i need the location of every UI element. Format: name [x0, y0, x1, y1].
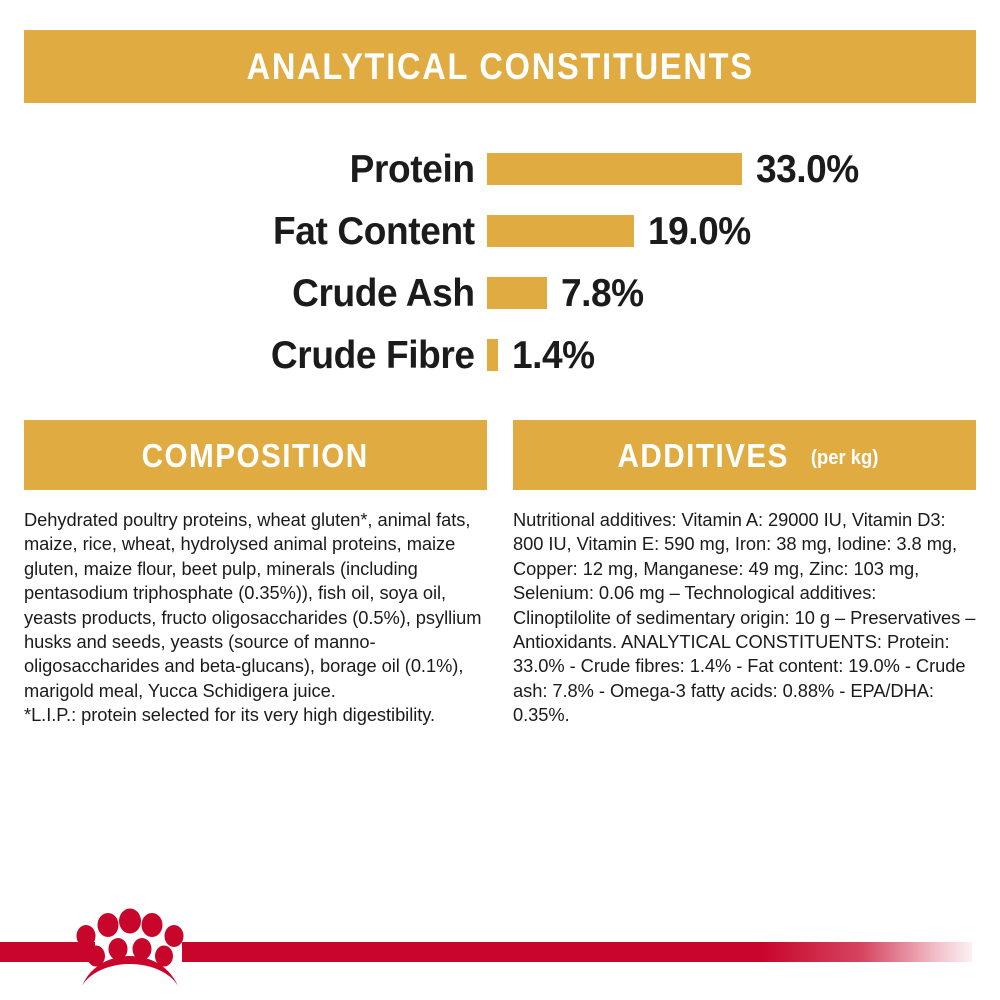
chart-bar — [487, 339, 498, 371]
chart-value-label: 33.0% — [756, 150, 859, 189]
chart-value-label: 1.4% — [512, 336, 595, 375]
chart-category-label: Protein — [24, 150, 487, 189]
composition-text: Dehydrated poultry proteins, wheat glute… — [24, 508, 487, 703]
composition-body: Dehydrated poultry proteins, wheat glute… — [24, 490, 487, 728]
chart-bar-group: 7.8% — [487, 274, 1000, 313]
brand-footer — [0, 900, 1000, 1000]
additives-text: Nutritional additives: Vitamin A: 29000 … — [513, 508, 976, 728]
chart-bar-group: 19.0% — [487, 212, 1000, 251]
chart-value-label: 19.0% — [648, 212, 751, 251]
chart-category-label: Crude Ash — [24, 274, 487, 313]
chart-category-label: Fat Content — [24, 212, 487, 251]
composition-header: COMPOSITION — [24, 420, 487, 490]
royal-canin-crown-icon — [74, 906, 186, 988]
footer-rule-right — [182, 942, 972, 962]
chart-row: Fat Content19.0% — [0, 200, 1000, 262]
additives-heading-unit: (per kg) — [810, 448, 877, 468]
chart-bar — [487, 277, 547, 309]
chart-value-label: 7.8% — [561, 274, 644, 313]
composition-footnote: *L.I.P.: protein selected for its very h… — [24, 703, 487, 727]
chart-bar-group: 1.4% — [487, 336, 1000, 375]
chart-bar-group: 33.0% — [487, 150, 1000, 189]
composition-panel: COMPOSITION Dehydrated poultry proteins,… — [24, 420, 487, 728]
info-panels: COMPOSITION Dehydrated poultry proteins,… — [24, 420, 976, 728]
analytical-constituents-header: ANALYTICAL CONSTITUENTS — [24, 30, 976, 103]
additives-panel: ADDITIVES (per kg) Nutritional additives… — [513, 420, 976, 728]
analytical-constituents-chart: Protein33.0%Fat Content19.0%Crude Ash7.8… — [0, 138, 1000, 386]
chart-category-label: Crude Fibre — [24, 336, 487, 375]
chart-bar — [487, 153, 742, 185]
chart-bar — [487, 215, 634, 247]
page-title: ANALYTICAL CONSTITUENTS — [246, 48, 753, 85]
chart-row: Crude Ash7.8% — [0, 262, 1000, 324]
additives-body: Nutritional additives: Vitamin A: 29000 … — [513, 490, 976, 728]
additives-header: ADDITIVES (per kg) — [513, 420, 976, 490]
chart-row: Protein33.0% — [0, 138, 1000, 200]
additives-heading: ADDITIVES — [618, 439, 789, 472]
composition-heading: COMPOSITION — [142, 439, 369, 472]
chart-row: Crude Fibre1.4% — [0, 324, 1000, 386]
